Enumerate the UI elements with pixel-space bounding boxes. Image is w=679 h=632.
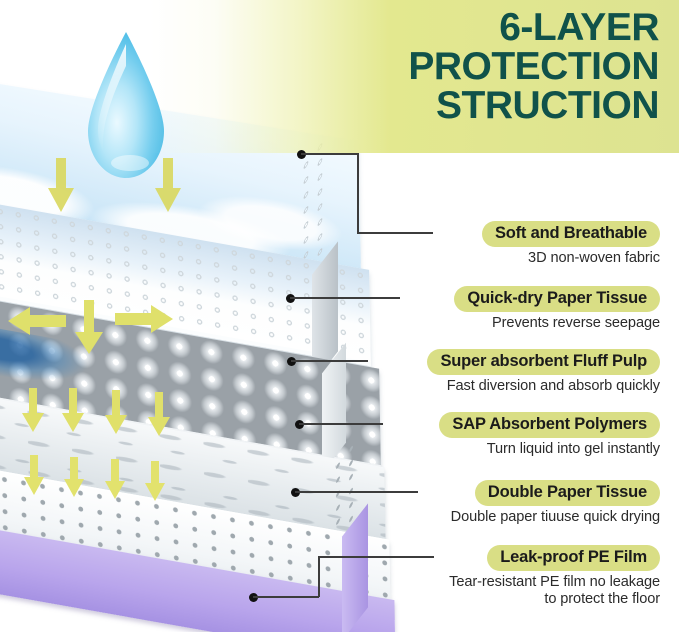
callout-subtitle-6: Tear-resistant PE film no leakage to pro… (449, 574, 660, 608)
callout-title-6: Leak-proof PE Film (487, 545, 660, 571)
callout-title-1: Soft and Breathable (482, 221, 660, 247)
diversion-arrow-right (115, 303, 173, 340)
leader-line-6c (318, 556, 434, 558)
callout-layer-6: Leak-proof PE Film Tear-resistant PE fil… (449, 545, 660, 608)
leader-line-6a (253, 596, 319, 598)
leader-line-6b (318, 556, 320, 597)
page-title: 6-LAYER PROTECTION STRUCTION (299, 8, 659, 125)
title-line-3: STRUCTION (299, 86, 659, 125)
diversion-arrow-down (75, 300, 103, 359)
leader-line-1c (357, 232, 433, 234)
callout-subtitle-4: Turn liquid into gel instantly (439, 441, 660, 458)
callout-title-3: Super absorbent Fluff Pulp (427, 349, 660, 375)
leader-line-2 (290, 297, 400, 299)
callout-layer-4: SAP Absorbent Polymers Turn liquid into … (439, 412, 660, 458)
infographic-root: 6-LAYER PROTECTION STRUCTION Soft and Br… (0, 0, 679, 632)
callout-subtitle-3: Fast diversion and absorb quickly (427, 378, 660, 395)
leader-line-3 (291, 360, 368, 362)
callout-title-4: SAP Absorbent Polymers (439, 412, 660, 438)
absorb-arrow-down-2 (155, 158, 181, 217)
tissue-arrow-down-3 (105, 459, 125, 504)
sap-arrow-down-4 (148, 392, 170, 441)
sap-arrow-down-2b (62, 388, 84, 437)
callout-subtitle-5: Double paper tiuuse quick drying (451, 509, 660, 526)
sap-arrow-down-1 (22, 388, 44, 437)
tissue-arrow-down-2 (64, 457, 84, 502)
callout-title-2: Quick-dry Paper Tissue (454, 286, 660, 312)
callout-subtitle-2: Prevents reverse seepage (454, 315, 660, 332)
callout-subtitle-1: 3D non-woven fabric (482, 250, 660, 267)
callout-layer-2: Quick-dry Paper Tissue Prevents reverse … (454, 286, 660, 332)
callout-title-5: Double Paper Tissue (475, 480, 660, 506)
title-banner: 6-LAYER PROTECTION STRUCTION (0, 0, 679, 153)
diversion-arrow-left (8, 305, 66, 342)
absorb-arrow-down-1 (48, 158, 74, 217)
callout-layer-1: Soft and Breathable 3D non-woven fabric (482, 221, 660, 267)
leader-line-1a (301, 153, 358, 155)
leader-line-5 (295, 491, 418, 493)
sap-arrow-down-3 (105, 390, 127, 439)
leader-line-1b (357, 153, 359, 233)
tissue-arrow-down-1 (24, 455, 44, 500)
callout-layer-3: Super absorbent Fluff Pulp Fast diversio… (427, 349, 660, 395)
leader-line-4 (299, 423, 383, 425)
tissue-arrow-down-4 (145, 461, 165, 506)
title-line-1: 6-LAYER (299, 8, 659, 47)
callout-layer-5: Double Paper Tissue Double paper tiuuse … (451, 480, 660, 526)
title-line-2: PROTECTION (299, 47, 659, 86)
